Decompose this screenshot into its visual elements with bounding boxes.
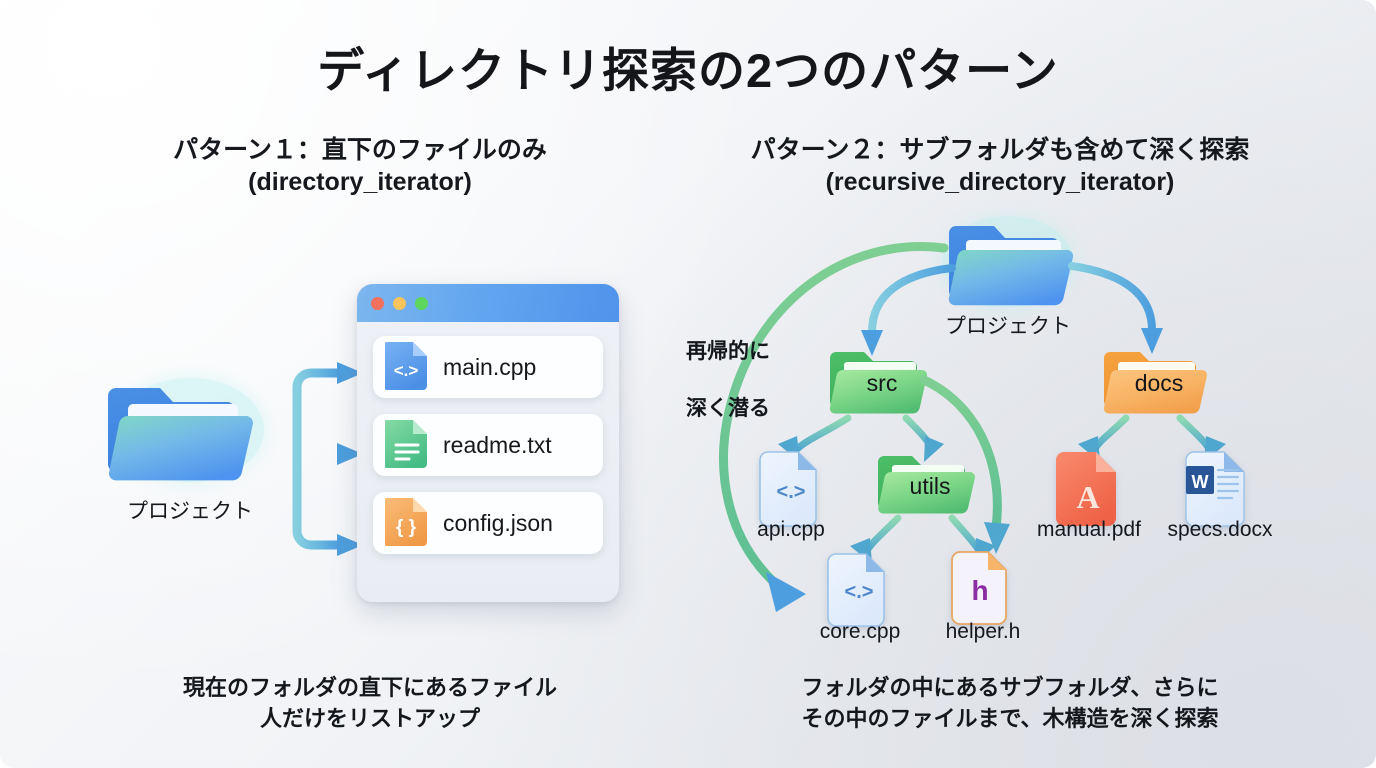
pattern2-root-folder-label: プロジェクト xyxy=(918,310,1098,340)
pattern1-caption-line1: 現在のフォルダの直下にあるファイル xyxy=(60,672,680,703)
pattern2-utils-children-arrows xyxy=(850,518,996,564)
code-file-icon: <.> xyxy=(385,340,429,395)
recursive-annotation-line1: 再帰的に xyxy=(686,338,770,366)
file-icon-helper-h: h xyxy=(952,552,1006,624)
pattern2-docs-children-arrows xyxy=(1078,418,1226,462)
text-file-icon xyxy=(385,418,429,473)
pattern1-root-folder-icon xyxy=(108,378,264,482)
pattern1-caption-line2: 人だけをリストアップ xyxy=(60,703,680,734)
file-label-api-cpp: api.cpp xyxy=(731,518,851,542)
pattern2-caption: フォルダの中にあるサブフォルダ、さらに その中のファイルまで、木構造を深く探索 xyxy=(700,672,1320,734)
svg-text:A: A xyxy=(1076,479,1099,515)
pattern1-root-folder-label: プロジェクト xyxy=(100,495,280,525)
file-label-helper-h: helper.h xyxy=(923,620,1043,644)
file-label-core-cpp: core.cpp xyxy=(800,620,920,644)
window-file-list: <.> main.cpp readme.txt xyxy=(357,322,619,568)
file-icon-core-cpp: <.> xyxy=(828,554,884,626)
pattern2-root-folder-icon xyxy=(942,216,1074,308)
svg-text:<.>: <.> xyxy=(777,481,806,503)
svg-text:h: h xyxy=(971,575,988,606)
file-row-config-json[interactable]: { } config.json xyxy=(373,492,603,554)
file-name-label: main.cpp xyxy=(443,354,536,381)
pattern2-heading-line1: パターン２：サブフォルダも含めて深く探索 xyxy=(690,134,1310,166)
folder-label-utils: utils xyxy=(884,473,976,500)
diagram-canvas: ディレクトリ探索の2つのパターン パターン１：直下のファイルのみ (direct… xyxy=(0,0,1376,768)
pattern2-heading-line2: (recursive_directory_iterator) xyxy=(690,166,1310,198)
pattern1-heading: パターン１：直下のファイルのみ (directory_iterator) xyxy=(60,134,660,198)
page-title: ディレクトリ探索の2つのパターン xyxy=(0,32,1376,101)
svg-text:<.>: <.> xyxy=(845,581,874,603)
maximize-dot[interactable] xyxy=(415,297,428,310)
file-icon-manual-pdf: A xyxy=(1056,452,1116,526)
pattern2-caption-line2: その中のファイルまで、木構造を深く探索 xyxy=(700,703,1320,734)
file-name-label: readme.txt xyxy=(443,432,552,459)
window-titlebar[interactable] xyxy=(357,284,619,322)
file-browser-window[interactable]: <.> main.cpp readme.txt xyxy=(357,284,619,602)
file-row-main-cpp[interactable]: <.> main.cpp xyxy=(373,336,603,398)
file-label-specs-docx: specs.docx xyxy=(1150,518,1290,542)
pattern1-caption: 現在のフォルダの直下にあるファイル 人だけをリストアップ xyxy=(60,672,680,734)
recursive-annotation: 再帰的に 深く潜る xyxy=(686,310,770,452)
svg-text:<.>: <.> xyxy=(394,361,419,380)
close-dot[interactable] xyxy=(371,297,384,310)
folder-label-docs: docs xyxy=(1110,370,1208,397)
folder-label-src: src xyxy=(836,370,928,397)
recursive-annotation-line2: 深く潜る xyxy=(686,395,770,423)
file-row-readme-txt[interactable]: readme.txt xyxy=(373,414,603,476)
file-label-manual-pdf: manual.pdf xyxy=(1019,518,1159,542)
file-icon-api-cpp: <.> xyxy=(760,452,816,526)
minimize-dot[interactable] xyxy=(393,297,406,310)
pattern2-src-children-arrows xyxy=(778,418,944,462)
json-file-icon: { } xyxy=(385,496,429,551)
pattern2-heading: パターン２：サブフォルダも含めて深く探索 (recursive_director… xyxy=(690,134,1310,198)
svg-text:{ }: { } xyxy=(396,517,417,538)
svg-text:W: W xyxy=(1192,472,1209,492)
pattern2-caption-line1: フォルダの中にあるサブフォルダ、さらに xyxy=(700,672,1320,703)
pattern1-heading-line2: (directory_iterator) xyxy=(60,166,660,198)
file-name-label: config.json xyxy=(443,510,553,537)
pattern1-heading-line1: パターン１：直下のファイルのみ xyxy=(60,134,660,166)
pattern2-recursive-inner-arrow xyxy=(924,380,1010,554)
file-icon-specs-docx: W xyxy=(1186,452,1244,526)
